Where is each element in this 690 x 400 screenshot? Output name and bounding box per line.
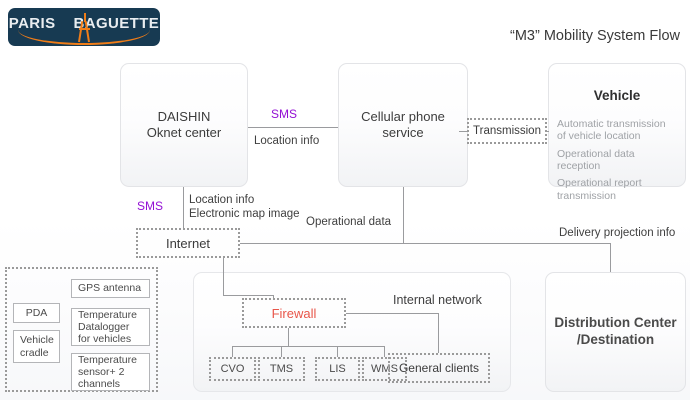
node-distribution-center-label: Distribution Center /Destination <box>554 315 676 349</box>
node-cellular-label: Cellular phone service <box>361 109 445 142</box>
device-box-gps-antenna[interactable]: GPS antenna <box>71 279 150 298</box>
device-box-temperature-datalogger[interactable]: Temperature Datalogger for vehicles <box>71 308 150 346</box>
vehicle-cradle-label: Vehicle cradle <box>20 334 54 358</box>
cvo-label: CVO <box>221 363 245 375</box>
connector-down-to-distribution-center <box>610 243 611 272</box>
temperature-sensor-label: Temperature sensor+ 2 channels <box>78 354 137 390</box>
node-cellular-phone-service[interactable]: Cellular phone service <box>338 63 468 187</box>
device-box-vehicle-cradle[interactable]: Vehicle cradle <box>13 330 60 363</box>
connector-internet-to-distribution <box>403 243 611 244</box>
connector-to-internet-right <box>240 243 404 244</box>
vehicle-feature-item: Operational report transmission <box>557 177 677 202</box>
dotted-node-cvo[interactable]: CVO <box>209 357 256 381</box>
internal-network-label: Internal network <box>393 293 482 307</box>
connector-down-to-general-clients <box>438 313 439 353</box>
connector-bus-to-cvo <box>232 346 233 357</box>
diagram-canvas: PARISBAGUETTE “M3” Mobility System Flow … <box>0 0 690 400</box>
general-clients-label: General clients <box>399 361 479 375</box>
dotted-node-lis[interactable]: LIS <box>315 357 360 381</box>
device-box-pda[interactable]: PDA <box>13 303 60 323</box>
vehicle-feature-item: Automatic transmission of vehicle locati… <box>557 118 677 143</box>
connector-daishin-to-cellular <box>248 127 338 128</box>
node-vehicle[interactable]: Vehicle Automatic transmission of vehicl… <box>548 63 686 187</box>
connector-firewall-down <box>288 328 289 346</box>
node-vehicle-feature-list: Automatic transmission of vehicle locati… <box>549 118 685 202</box>
dotted-node-tms[interactable]: TMS <box>258 357 305 381</box>
connector-cellular-down <box>403 187 404 243</box>
connector-bus-to-lis <box>337 346 338 357</box>
gps-antenna-label: GPS antenna <box>78 282 141 294</box>
lis-label: LIS <box>329 363 346 375</box>
edge-label-operational-data: Operational data <box>306 215 391 229</box>
edge-label-sms-top: SMS <box>271 107 297 122</box>
connector-internet-down <box>223 258 224 295</box>
dotted-node-firewall[interactable]: Firewall <box>242 298 346 328</box>
edge-label-location-info-top: Location info <box>254 134 319 148</box>
connector-firewall-to-general-clients <box>346 313 439 314</box>
device-box-temperature-sensor[interactable]: Temperature sensor+ 2 channels <box>71 353 150 391</box>
connector-bus-to-tms <box>281 346 282 357</box>
page-title: “M3” Mobility System Flow <box>510 28 680 44</box>
vehicle-feature-item: Operational data reception <box>557 148 677 173</box>
node-daishin-label: DAISHIN Oknet center <box>147 109 221 142</box>
transmission-label: Transmission <box>473 125 541 137</box>
edge-label-delivery-projection: Delivery projection info <box>559 226 675 240</box>
dotted-node-internet[interactable]: Internet <box>136 228 240 258</box>
dotted-node-general-clients[interactable]: General clients <box>388 353 490 383</box>
paris-baguette-logo: PARISBAGUETTE <box>8 8 160 46</box>
connector-daishin-to-internet <box>183 187 184 228</box>
pda-label: PDA <box>26 307 48 319</box>
node-vehicle-title: Vehicle <box>549 88 685 105</box>
temperature-datalogger-label: Temperature Datalogger for vehicles <box>78 309 137 345</box>
logo-swoosh-decoration <box>18 30 150 45</box>
connector-internet-bend <box>223 295 274 296</box>
edge-label-location-map: Location info Electronic map image <box>189 193 300 221</box>
firewall-label: Firewall <box>272 306 317 321</box>
dotted-node-transmission[interactable]: Transmission <box>467 118 547 144</box>
connector-service-bus <box>232 346 384 347</box>
edge-label-sms-left: SMS <box>137 199 163 214</box>
tms-label: TMS <box>270 363 293 375</box>
connector-transmission-to-vehicle <box>547 131 549 132</box>
node-daishin-oknet-center[interactable]: DAISHIN Oknet center <box>120 63 248 187</box>
connector-bus-to-wms <box>384 346 385 357</box>
internet-label: Internet <box>166 236 210 251</box>
node-distribution-center[interactable]: Distribution Center /Destination <box>545 272 686 392</box>
